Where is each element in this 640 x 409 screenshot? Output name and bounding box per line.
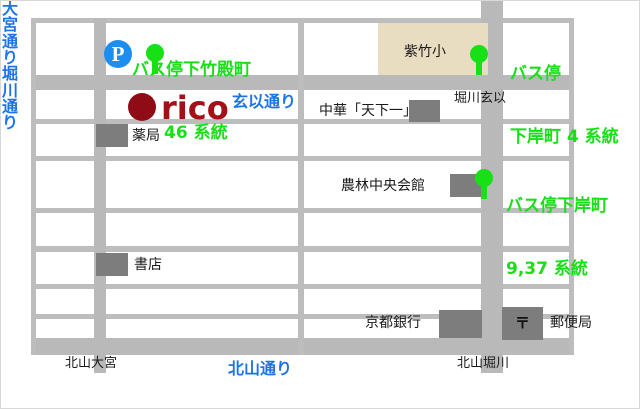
- label-intersection-horikawa-genni: 堀川玄以: [454, 92, 506, 107]
- bus-stop-shimokishicho4-line1: バス停: [510, 64, 619, 85]
- rico-marker-icon: [128, 93, 156, 121]
- bus-stop-shimokishicho937-line2: 9,37 系統: [506, 259, 608, 280]
- label-kyoto-bank: 京都銀行: [365, 315, 421, 331]
- label-street-kitayama-dori: 北山通り: [228, 360, 292, 378]
- bus-stop-shimokishicho4-line2: 下岸町 4 系統: [510, 127, 619, 148]
- label-street-horikawa-dori: 堀川通り: [1, 66, 19, 131]
- building-pharmacy: [96, 124, 128, 147]
- access-map: 紫竹小 〒 薬局 中華「天下一」 農林中央会館 書店 京都銀行 郵便局 玄以通り…: [0, 0, 640, 409]
- road-vertical-minor-mid: [298, 18, 304, 355]
- bus-pin-stem-icon: [481, 183, 487, 199]
- parking-icon[interactable]: P: [104, 40, 132, 68]
- label-chinese-restaurant: 中華「天下一」: [319, 103, 417, 119]
- label-bus-stop-shimokishicho-9-37: バス停下岸町 9,37 系統: [506, 155, 608, 321]
- road-vertical-minor-left: [31, 18, 36, 355]
- road-omiya-dori: [94, 18, 106, 373]
- label-norin-chuo-kaikan: 農林中央会館: [341, 178, 425, 194]
- bus-stop-shimokishicho937-line1: バス停下岸町: [506, 196, 608, 217]
- label-street-omiya-dori: 大宮通り: [1, 1, 19, 66]
- label-intersection-kitayama-omiya: 北山大宮: [65, 357, 117, 372]
- bus-stop-pin-shimokishicho-9-37[interactable]: [475, 169, 493, 199]
- building-kyoto-bank: [439, 310, 482, 338]
- bus-stop-pin-shimokishicho-4[interactable]: [470, 45, 488, 75]
- label-intersection-kitayama-horikawa: 北山堀川: [457, 357, 509, 372]
- bus-stop-shimotakedono-line1: バス停下竹殿町: [132, 60, 251, 81]
- building-bookstore: [96, 253, 128, 276]
- label-bookstore: 書店: [134, 257, 162, 273]
- bus-pin-stem-icon: [476, 59, 482, 75]
- label-shichiku-elementary: 紫竹小: [404, 41, 446, 61]
- rico-label: rico: [161, 92, 229, 124]
